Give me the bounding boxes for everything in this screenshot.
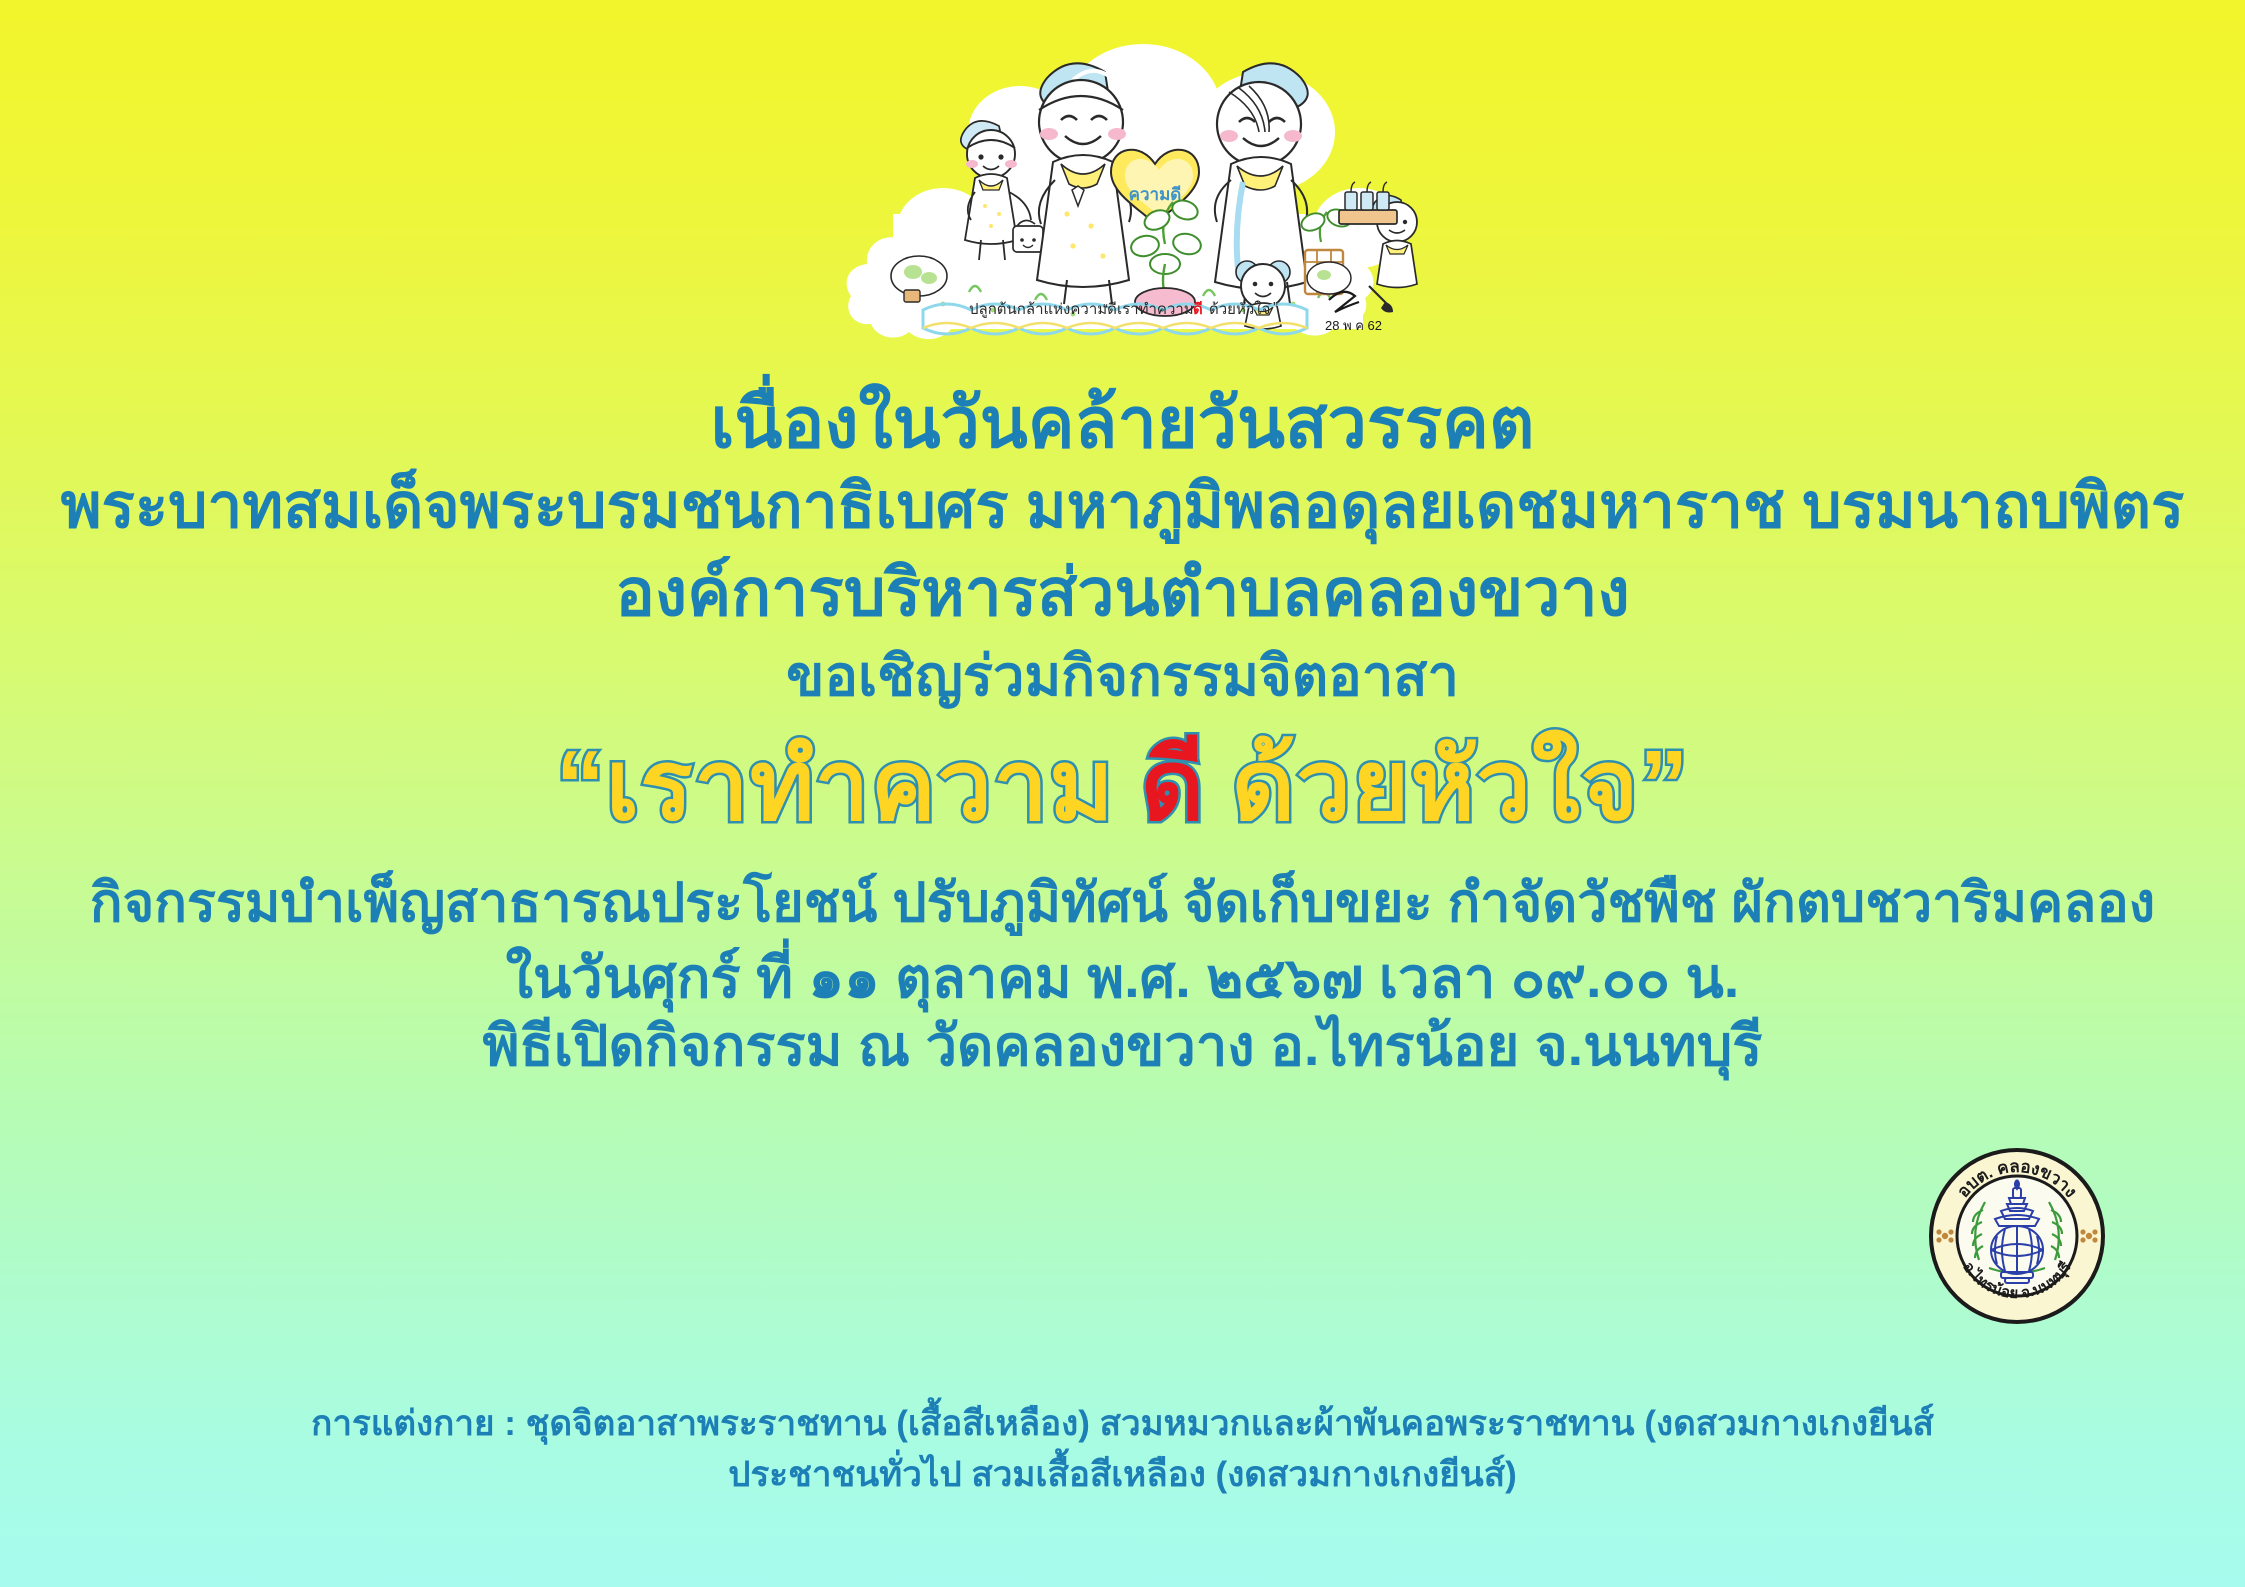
headline-commemoration: เนื่องในวันคล้ายวันสวรรคต	[0, 386, 2245, 460]
headline-invitation: ขอเชิญร่วมกิจกรรมจิตอาสา	[0, 646, 2245, 705]
signature-date: 28 พ ค 62	[1325, 318, 1382, 333]
slogan-we-do-good-with-heart: “เราทำความดีด้วยหัวใจ”	[0, 731, 2245, 841]
slogan-part1: เราทำความ	[606, 730, 1115, 840]
bush-right	[1307, 262, 1351, 294]
headline-organization: องค์การบริหารส่วนตำบลคลองขวาง	[0, 558, 2245, 628]
slogan-quote-open: “	[556, 730, 606, 840]
detail-venue: พิธีเปิดกิจกรรม ณ วัดคลองขวาง อ.ไทรน้อย …	[0, 1016, 2245, 1075]
volunteer-family-planting-illustration: ความดี	[773, 14, 1473, 354]
caption-quote-close: ”	[1273, 299, 1278, 316]
caption-quote-open: “	[1103, 301, 1108, 318]
headline-king-title: พระบาทสมเด็จพระบรมชนกาธิเบศร มหาภูมิพลอด…	[0, 474, 2245, 540]
official-seal: อบต. คลองขวาง อ.ไทรน้อย จ.นนทบุรี	[1927, 1146, 2107, 1326]
slogan-quote-close: ”	[1639, 730, 1689, 840]
slogan-part2: ด้วยหัวใจ	[1231, 730, 1639, 840]
dress-code-line-2: ประชาชนทั่วไป สวมเสื้อสีเหลือง (งดสวมกาง…	[0, 1450, 2245, 1501]
caption-slogan-part1: เราทำความ	[1117, 301, 1194, 318]
caption-slogan-part2: ด้วยหัวใจ	[1209, 300, 1270, 318]
heart-label: ความดี	[1128, 184, 1181, 204]
poster-canvas: ความดี	[0, 0, 2245, 1587]
detail-activity-description: กิจกรรมบำเพ็ญสาธารณประโยชน์ ปรับภูมิทัศน…	[0, 875, 2245, 932]
slogan-highlight-good: ดี	[1141, 730, 1206, 840]
shovel-icon	[1369, 286, 1393, 313]
dress-code-footer: การแต่งกาย : ชุดจิตอาสาพระราชทาน (เสื้อส…	[0, 1399, 2245, 1501]
detail-date-time: ในวันศุกร์ ที่ ๑๑ ตุลาคม พ.ศ. ๒๕๖๗ เวลา …	[0, 948, 2245, 1007]
illustration-caption: ปลูกต้นกล้าแห่งความดี	[969, 301, 1117, 318]
caption-slogan-red: ดี	[1193, 301, 1203, 318]
dress-code-line-1: การแต่งกาย : ชุดจิตอาสาพระราชทาน (เสื้อส…	[0, 1399, 2245, 1450]
main-text-block: เนื่องในวันคล้ายวันสวรรคต พระบาทสมเด็จพร…	[0, 386, 2245, 1075]
